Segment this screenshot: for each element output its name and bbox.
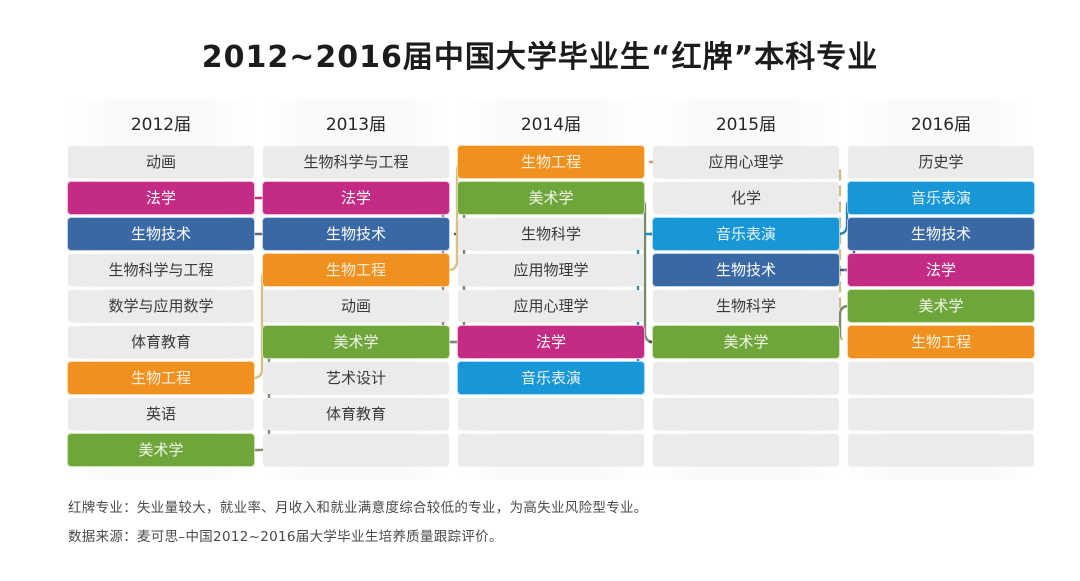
major-box[interactable]: 音乐表演: [458, 362, 644, 394]
column-2012届: 2012届动画法学生物技术生物科学与工程数学与应用数学体育教育生物工程英语美术学: [68, 112, 254, 470]
major-slot-empty: [653, 362, 839, 394]
major-box[interactable]: 生物技术: [848, 218, 1034, 250]
major-slot-empty: [458, 398, 644, 430]
major-slot-empty: [848, 362, 1034, 394]
major-box[interactable]: 生物科学: [653, 290, 839, 322]
column-header: 2013届: [263, 112, 449, 138]
major-box[interactable]: 音乐表演: [848, 182, 1034, 214]
major-box[interactable]: 法学: [68, 182, 254, 214]
major-box[interactable]: 应用心理学: [653, 146, 839, 178]
major-box[interactable]: 生物工程: [68, 362, 254, 394]
column-header: 2016届: [848, 112, 1034, 138]
major-box[interactable]: 生物科学与工程: [263, 146, 449, 178]
major-box[interactable]: 应用物理学: [458, 254, 644, 286]
major-box[interactable]: 动画: [263, 290, 449, 322]
footnote-source: 数据来源：麦可思–中国2012~2016届大学毕业生培养质量跟踪评价。: [68, 525, 503, 545]
major-slot-empty: [848, 398, 1034, 430]
major-box[interactable]: 美术学: [653, 326, 839, 358]
major-box[interactable]: 体育教育: [68, 326, 254, 358]
major-box[interactable]: 历史学: [848, 146, 1034, 178]
column-2015届: 2015届应用心理学化学音乐表演生物技术生物科学美术学: [653, 112, 839, 470]
major-slot-empty: [263, 434, 449, 466]
major-slot-empty: [458, 434, 644, 466]
major-box[interactable]: 美术学: [263, 326, 449, 358]
major-box[interactable]: 法学: [848, 254, 1034, 286]
major-slot-empty: [653, 398, 839, 430]
major-box[interactable]: 数学与应用数学: [68, 290, 254, 322]
major-box[interactable]: 法学: [458, 326, 644, 358]
column-rows: 动画法学生物技术生物科学与工程数学与应用数学体育教育生物工程英语美术学: [68, 146, 254, 466]
column-2014届: 2014届生物工程美术学生物科学应用物理学应用心理学法学音乐表演: [458, 112, 644, 470]
infographic-stage: 2012~2016届中国大学毕业生“红牌”本科专业 2012届动画法学生物技术生…: [0, 0, 1080, 581]
footnote-definition: 红牌专业：失业量较大，就业率、月收入和就业满意度综合较低的专业，为高失业风险型专…: [68, 496, 648, 516]
major-slot-empty: [653, 434, 839, 466]
major-box[interactable]: 动画: [68, 146, 254, 178]
column-header: 2015届: [653, 112, 839, 138]
major-box[interactable]: 英语: [68, 398, 254, 430]
column-rows: 生物科学与工程法学生物技术生物工程动画美术学艺术设计体育教育: [263, 146, 449, 466]
major-box[interactable]: 生物工程: [458, 146, 644, 178]
column-header: 2014届: [458, 112, 644, 138]
major-box[interactable]: 生物技术: [68, 218, 254, 250]
major-box[interactable]: 生物科学与工程: [68, 254, 254, 286]
major-slot-empty: [848, 434, 1034, 466]
major-box[interactable]: 美术学: [68, 434, 254, 466]
major-box[interactable]: 艺术设计: [263, 362, 449, 394]
column-rows: 生物工程美术学生物科学应用物理学应用心理学法学音乐表演: [458, 146, 644, 466]
column-rows: 应用心理学化学音乐表演生物技术生物科学美术学: [653, 146, 839, 466]
major-box[interactable]: 体育教育: [263, 398, 449, 430]
major-box[interactable]: 生物工程: [848, 326, 1034, 358]
column-header: 2012届: [68, 112, 254, 138]
column-2016届: 2016届历史学音乐表演生物技术法学美术学生物工程: [848, 112, 1034, 470]
major-box[interactable]: 美术学: [848, 290, 1034, 322]
page-title: 2012~2016届中国大学毕业生“红牌”本科专业: [0, 32, 1080, 76]
major-box[interactable]: 生物技术: [263, 218, 449, 250]
major-box[interactable]: 法学: [263, 182, 449, 214]
major-box[interactable]: 美术学: [458, 182, 644, 214]
major-box[interactable]: 生物科学: [458, 218, 644, 250]
major-box[interactable]: 生物技术: [653, 254, 839, 286]
column-2013届: 2013届生物科学与工程法学生物技术生物工程动画美术学艺术设计体育教育: [263, 112, 449, 470]
major-box[interactable]: 音乐表演: [653, 218, 839, 250]
major-box[interactable]: 化学: [653, 182, 839, 214]
major-box[interactable]: 应用心理学: [458, 290, 644, 322]
column-rows: 历史学音乐表演生物技术法学美术学生物工程: [848, 146, 1034, 466]
major-box[interactable]: 生物工程: [263, 254, 449, 286]
